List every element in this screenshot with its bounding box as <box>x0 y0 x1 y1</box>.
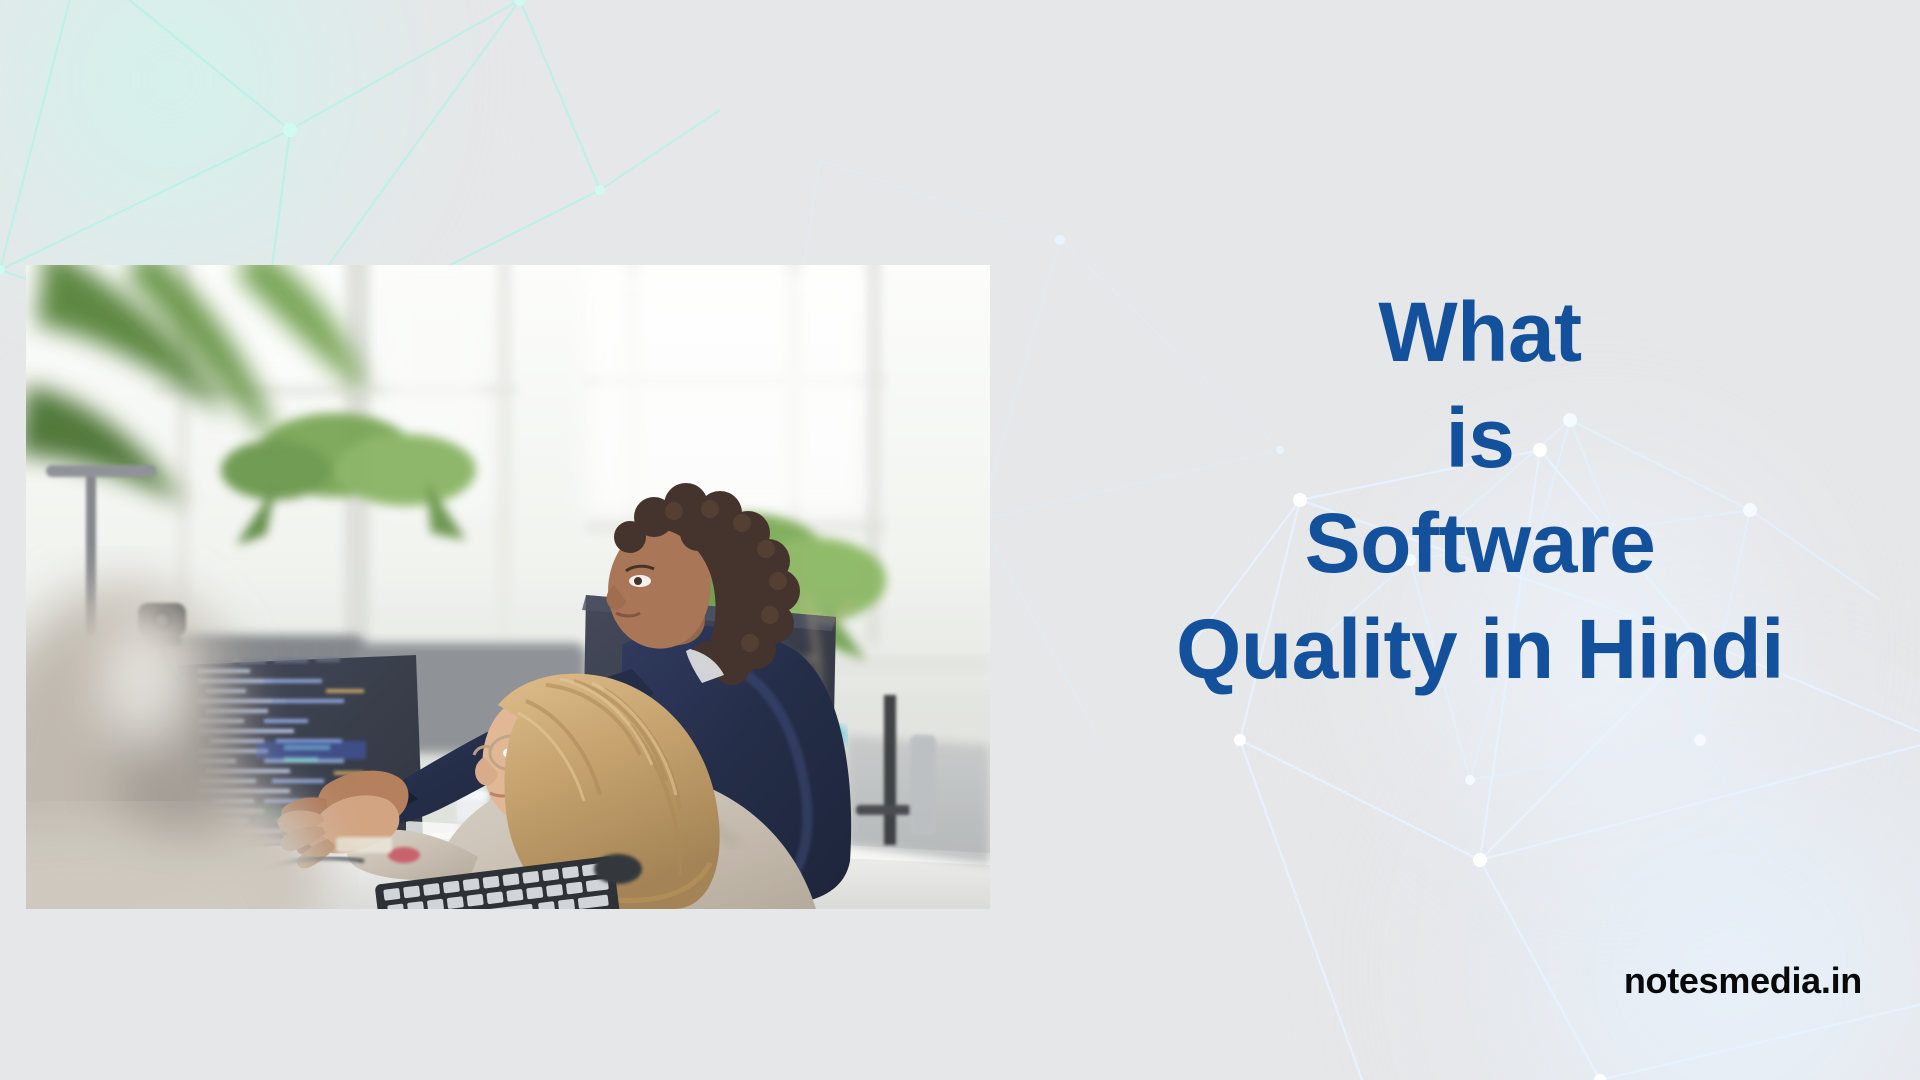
office-collaboration-photo <box>26 265 990 909</box>
title-line-1: What <box>1070 290 1890 376</box>
title-line-2: is <box>1070 396 1890 482</box>
blue-glow-bottomright <box>1380 660 1920 1080</box>
title-line-3: Software <box>1070 501 1890 587</box>
page-title: What is Software Quality in Hindi <box>1070 290 1890 693</box>
photo-illustration <box>26 265 990 909</box>
title-line-4: Quality in Hindi <box>1070 607 1890 693</box>
site-watermark: notesmedia.in <box>1624 960 1862 1002</box>
